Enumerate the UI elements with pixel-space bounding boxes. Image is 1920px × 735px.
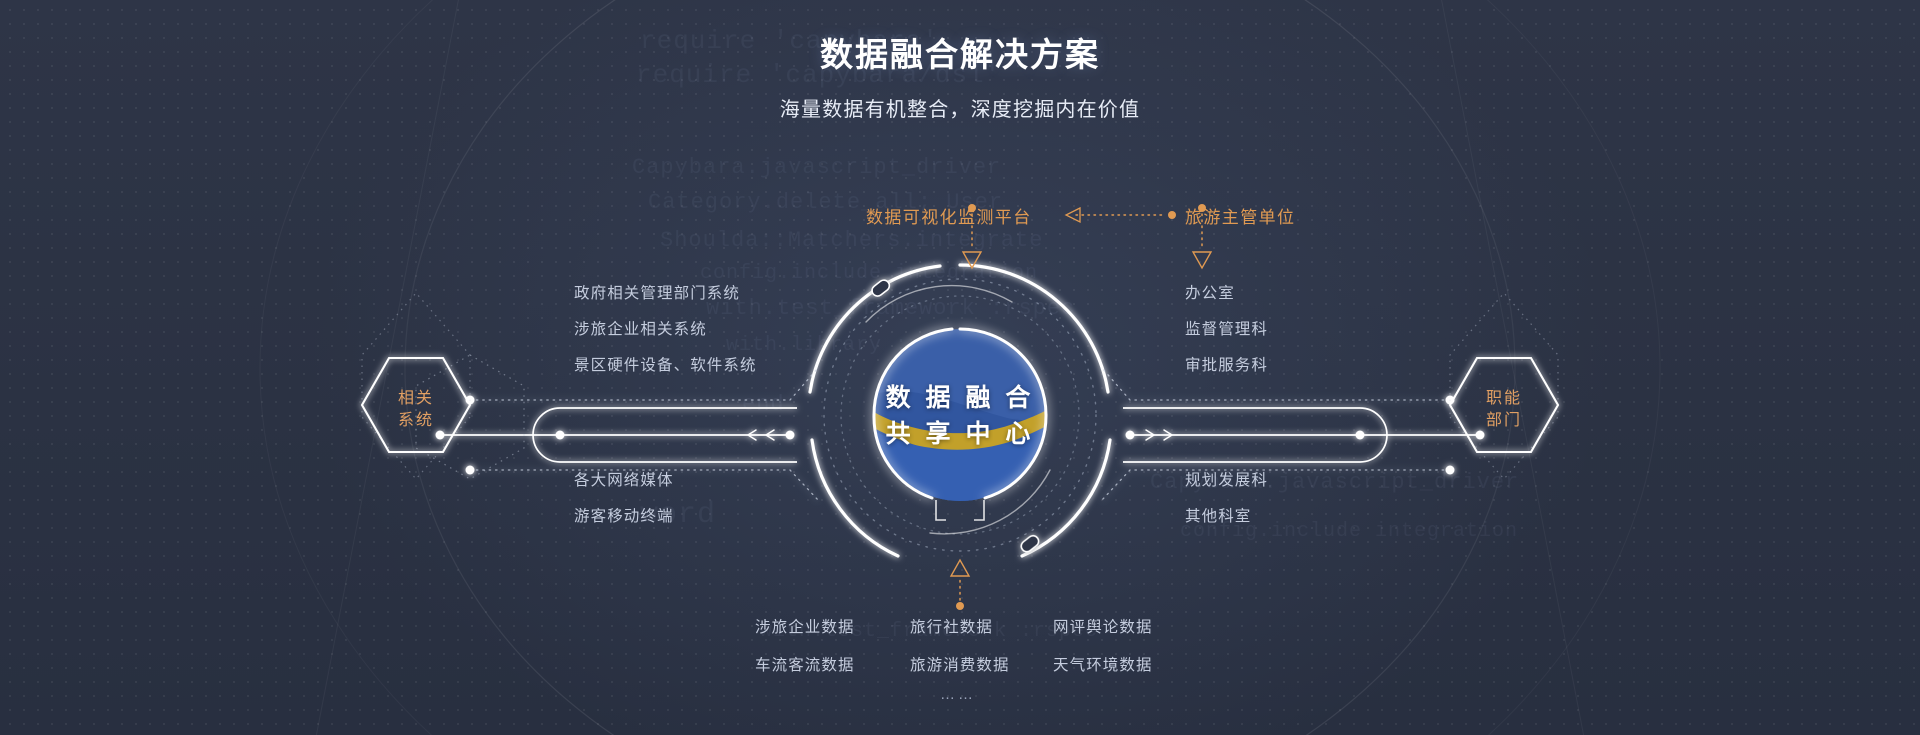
right-label-planning-development: 规划发展科	[1185, 468, 1268, 490]
code-watermark-line: end	[742, 392, 785, 417]
hexagon-right[interactable]	[1450, 293, 1558, 479]
code-watermark-line: config.include integration	[700, 262, 1038, 285]
page-title: 数据融合解决方案	[0, 34, 1920, 75]
hub-label-line2: 共 享 中 心	[0, 417, 1920, 453]
infographic-canvas: require 'capybara' require 'capybara/dsl…	[0, 0, 1920, 735]
bottom-label-traffic-flow-data: 车流客流数据	[755, 653, 855, 675]
header-block: 数据融合解决方案 海量数据有机整合，深度挖掘内在价值	[0, 34, 1920, 122]
bottom-label-enterprise-data: 涉旅企业数据	[755, 615, 855, 637]
top-label-visualization-platform[interactable]: 数据可视化监测平台	[866, 203, 1032, 228]
code-watermark-line: Capybara.javascript_driver	[632, 155, 1001, 180]
right-label-office: 办公室	[1185, 281, 1235, 303]
hexagon-left-label-line2: 系统	[362, 410, 470, 432]
left-label-tourist-mobile-terminals: 游客移动终端	[574, 504, 674, 526]
right-label-approval-service-department: 审批服务科	[1185, 353, 1268, 375]
hexagon-right-label-line1: 职能	[1450, 388, 1558, 410]
bottom-vertical-arrow	[951, 560, 969, 610]
page-subtitle: 海量数据有机整合，深度挖掘内在价值	[0, 93, 1920, 122]
code-watermark-line: Shoulda::Matchers.integrate	[660, 228, 1043, 253]
top-label-tourism-authority[interactable]: 旅游主管单位	[1185, 203, 1295, 228]
right-label-other-departments: 其他科室	[1185, 504, 1251, 526]
right-label-supervision-department: 监督管理科	[1185, 317, 1268, 339]
bottom-label-tourism-consumption-data: 旅游消费数据	[910, 653, 1010, 675]
right-connector	[1102, 368, 1485, 500]
bottom-ellipsis: ……	[940, 686, 976, 703]
left-label-network-media: 各大网络媒体	[574, 468, 674, 490]
hub-wave	[860, 391, 1060, 520]
top-horizontal-arrow	[1066, 208, 1176, 222]
hexagon-left-label[interactable]: 相关 系统	[362, 388, 470, 431]
hexagon-right-label[interactable]: 职能 部门	[1450, 388, 1558, 431]
bottom-label-online-review-data: 网评舆论数据	[1053, 615, 1153, 637]
bottom-label-travel-agency-data: 旅行社数据	[910, 615, 993, 637]
code-watermark-line: with.test_framework :rspec	[706, 296, 1075, 321]
hub-label: 数 据 融 合 共 享 中 心	[0, 381, 1920, 452]
hexagon-left[interactable]	[362, 293, 524, 479]
hexagon-right-label-line2: 部门	[1450, 410, 1558, 432]
left-label-tourism-enterprise-systems: 涉旅企业相关系统	[574, 317, 707, 339]
hub-disc	[874, 329, 1046, 501]
bottom-label-weather-environment-data: 天气环境数据	[1053, 653, 1153, 675]
left-label-government-systems: 政府相关管理部门系统	[574, 281, 740, 303]
left-label-scenic-hardware-software: 景区硬件设备、软件系统	[574, 353, 757, 375]
center-hub	[810, 265, 1110, 556]
hexagon-left-label-line1: 相关	[362, 388, 470, 410]
code-watermark-line: with.library :rails	[726, 334, 973, 357]
hub-label-line1: 数 据 融 合	[0, 381, 1920, 417]
